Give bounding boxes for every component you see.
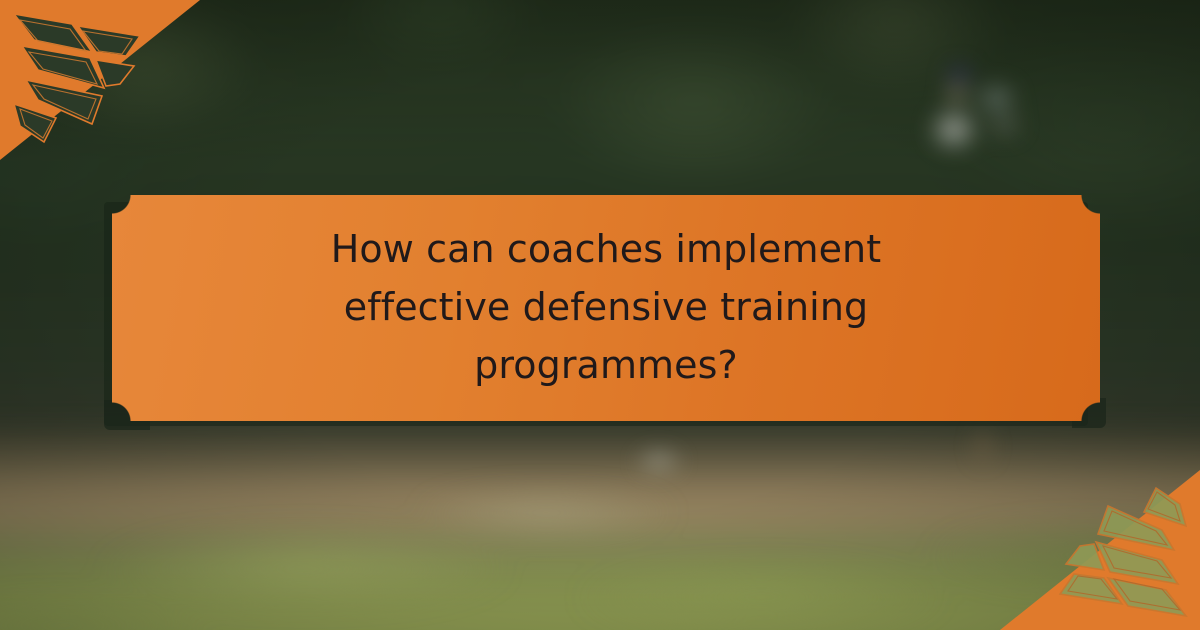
- page-title: How can coaches implement effective defe…: [186, 221, 1026, 394]
- headline-banner: How can coaches implement effective defe…: [112, 195, 1100, 421]
- quote-card: How can coaches implement effective defe…: [0, 0, 1200, 630]
